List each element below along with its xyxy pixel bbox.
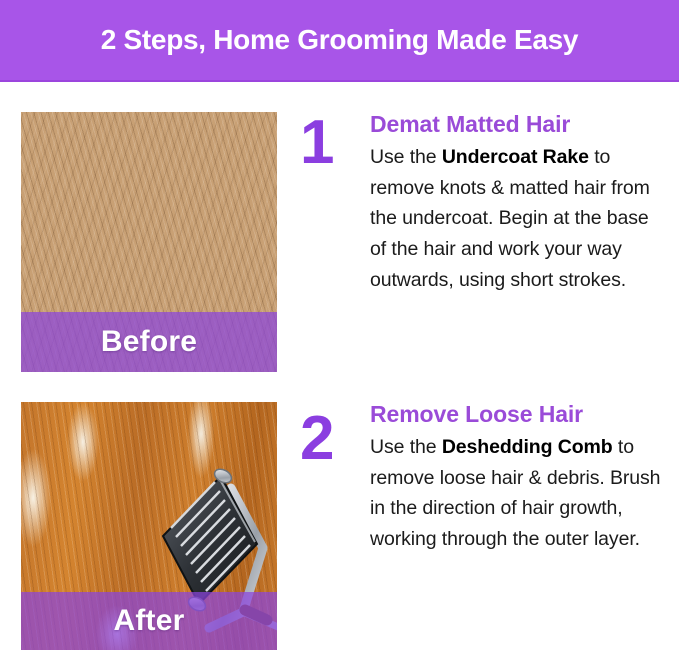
step-2-body: Use the Deshedding Comb to remove loose … bbox=[370, 432, 670, 555]
step-1-text-block: Demat Matted Hair Use the Undercoat Rake… bbox=[370, 112, 670, 296]
step-1-body-lead: Use the bbox=[370, 146, 442, 168]
step-2-body-lead: Use the bbox=[370, 436, 442, 458]
step-1-heading: Demat Matted Hair bbox=[370, 112, 670, 138]
step-2-tool-name: Deshedding Comb bbox=[442, 436, 613, 458]
step-2-text-block: Remove Loose Hair Use the Deshedding Com… bbox=[370, 402, 670, 555]
infographic-page: 2 Steps, Home Grooming Made Easy Before … bbox=[0, 0, 679, 655]
step-1-number: 1 bbox=[300, 112, 360, 174]
step-2-number: 2 bbox=[300, 408, 360, 470]
step-1-photo: Before bbox=[21, 112, 277, 372]
step-1-body: Use the Undercoat Rake to remove knots &… bbox=[370, 142, 670, 296]
after-caption-bar: After bbox=[21, 592, 277, 650]
before-caption-label: Before bbox=[101, 325, 197, 359]
after-caption-label: After bbox=[113, 604, 184, 638]
page-title: 2 Steps, Home Grooming Made Easy bbox=[101, 24, 578, 56]
before-caption-bar: Before bbox=[21, 312, 277, 372]
header-banner: 2 Steps, Home Grooming Made Easy bbox=[0, 0, 679, 82]
step-2-photo: After bbox=[21, 402, 277, 650]
step-2-heading: Remove Loose Hair bbox=[370, 402, 670, 428]
step-1-tool-name: Undercoat Rake bbox=[442, 146, 589, 168]
